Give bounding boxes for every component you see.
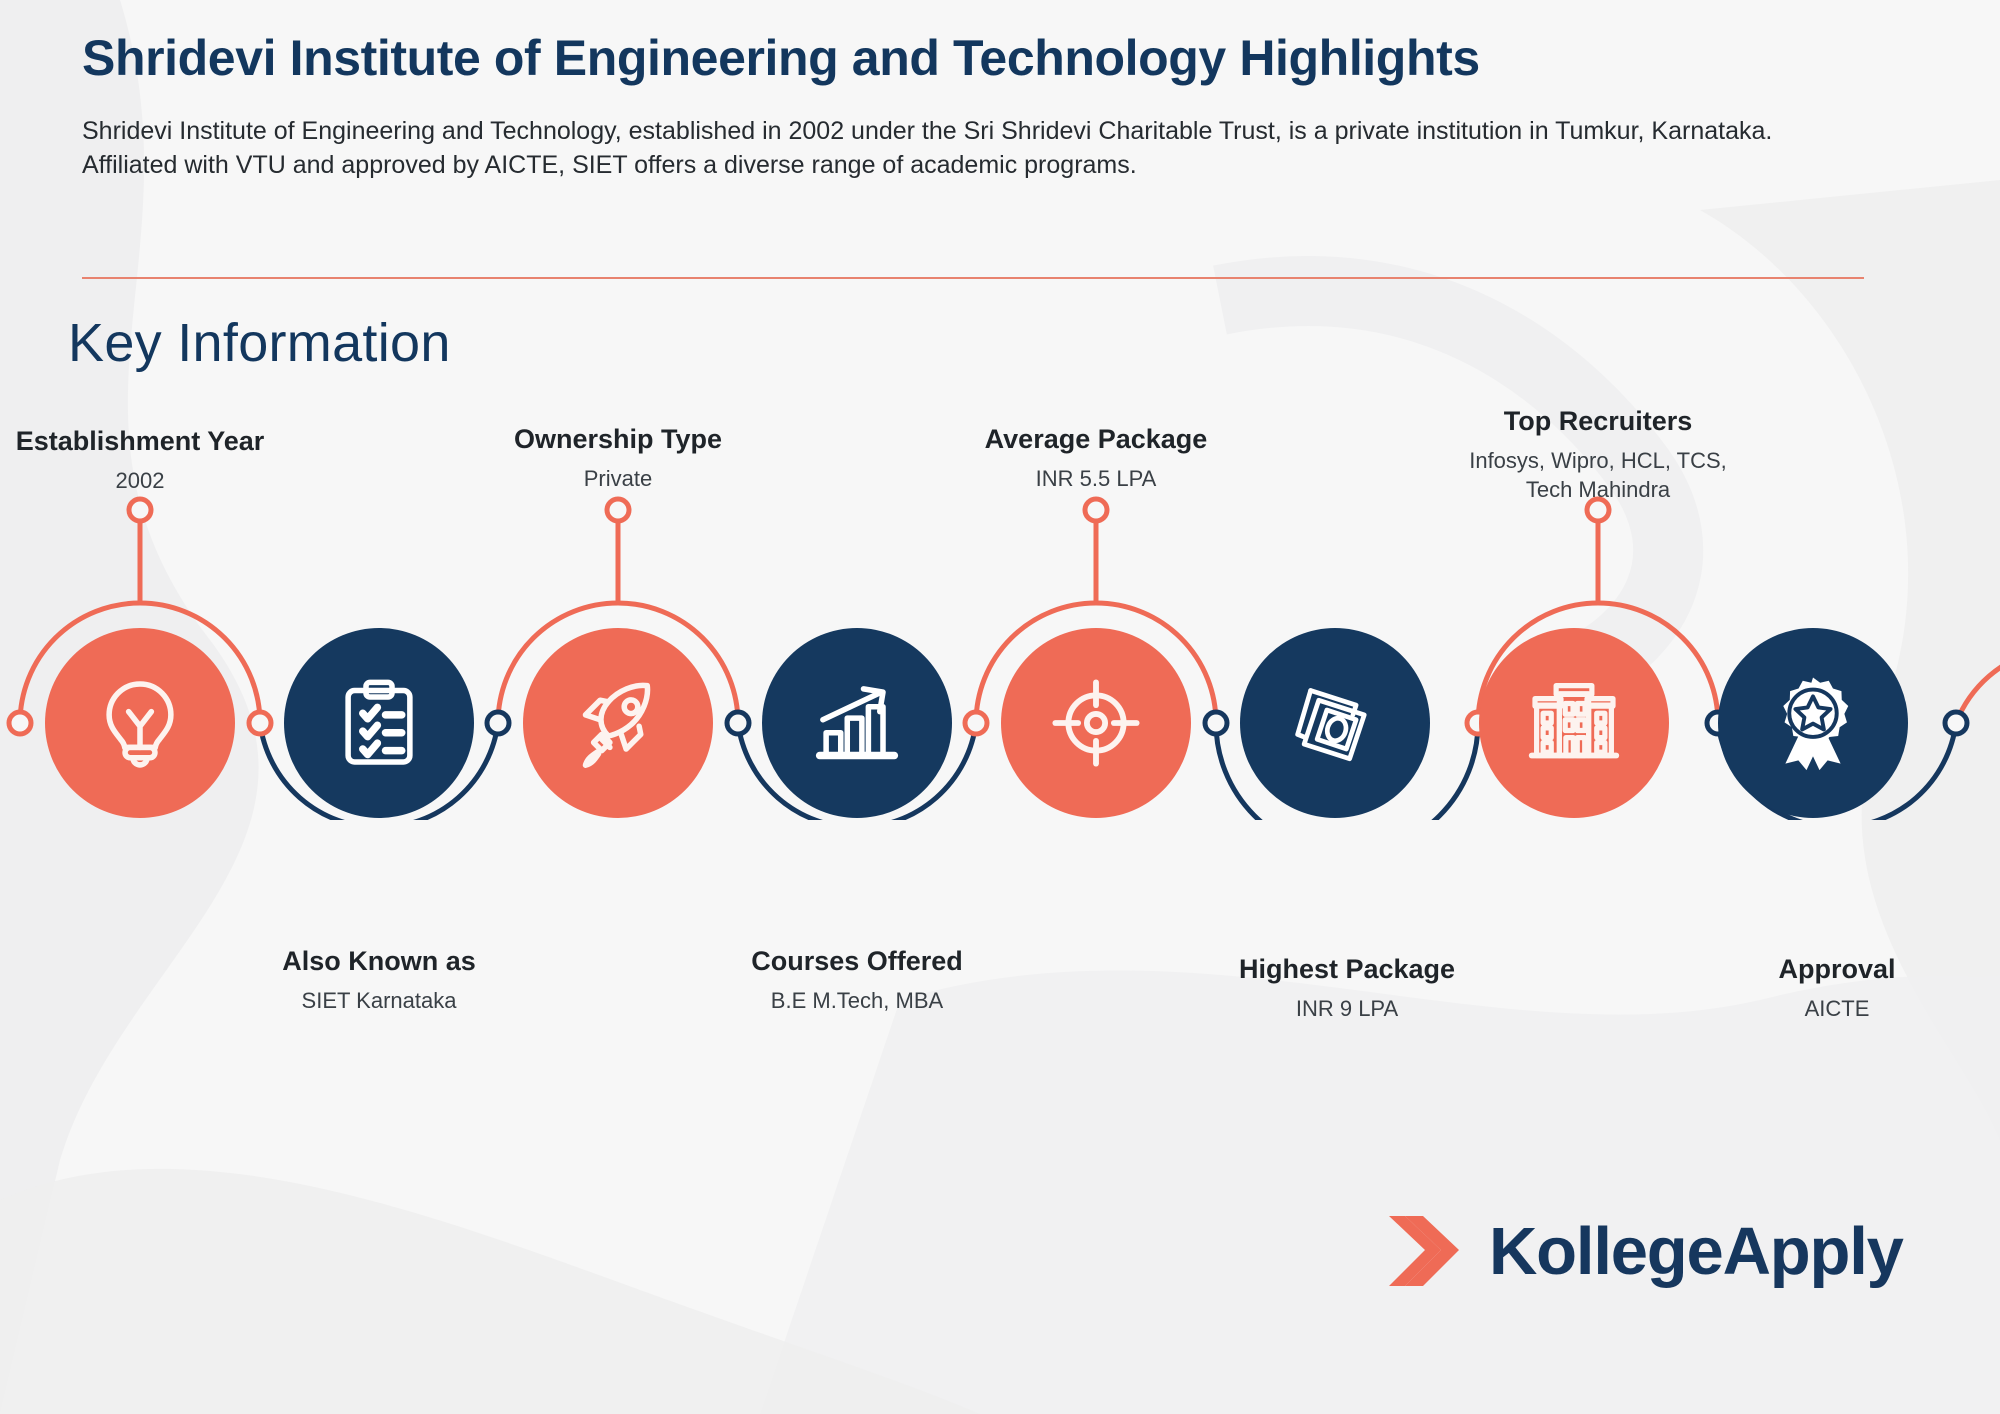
label-value: B.E M.Tech, MBA	[647, 987, 1067, 1016]
double-chevron-icon	[1385, 1212, 1467, 1290]
lightbulb-icon	[88, 671, 192, 775]
building-icon	[1522, 671, 1626, 775]
logo-text: KollegeApply	[1489, 1213, 1903, 1290]
label-title: Courses Offered	[647, 945, 1067, 978]
label-title: Also Known as	[169, 945, 589, 978]
timeline-node-approval[interactable]	[1718, 628, 1908, 818]
label-also-known-as: Also Known as SIET Karnataka	[169, 945, 589, 1016]
label-value: Infosys, Wipro, HCL, TCS, Tech Mahindra	[1458, 447, 1738, 504]
label-title: Ownership Type	[408, 423, 828, 456]
clipboard-checklist-icon	[327, 671, 431, 775]
target-icon	[1044, 671, 1148, 775]
banknotes-icon	[1283, 671, 1387, 775]
label-courses-offered: Courses Offered B.E M.Tech, MBA	[647, 945, 1067, 1016]
label-value: INR 5.5 LPA	[886, 465, 1306, 494]
timeline-node-ownership-type[interactable]	[523, 628, 713, 818]
brand-logo[interactable]: KollegeApply	[1385, 1212, 1903, 1290]
infographic-canvas: Shridevi Institute of Engineering and Te…	[0, 0, 2000, 1414]
timeline-node-top-recruiters[interactable]	[1479, 628, 1669, 818]
label-ownership-type: Ownership Type Private	[408, 423, 828, 494]
rocket-icon	[566, 671, 670, 775]
label-highest-package: Highest Package INR 9 LPA	[1137, 953, 1557, 1024]
timeline-node-establishment-year[interactable]	[45, 628, 235, 818]
label-average-package: Average Package INR 5.5 LPA	[886, 423, 1306, 494]
label-value: Private	[408, 465, 828, 494]
label-approval: Approval AICTE	[1627, 953, 2000, 1024]
label-title: Top Recruiters	[1388, 405, 1808, 438]
label-title: Average Package	[886, 423, 1306, 456]
header-divider	[82, 277, 1864, 279]
label-value: INR 9 LPA	[1137, 995, 1557, 1024]
label-top-recruiters: Top Recruiters Infosys, Wipro, HCL, TCS,…	[1388, 405, 1808, 504]
header-block: Shridevi Institute of Engineering and Te…	[82, 30, 1922, 183]
label-value: AICTE	[1627, 995, 2000, 1024]
label-establishment-year: Establishment Year 2002	[0, 425, 350, 496]
label-title: Approval	[1627, 953, 2000, 986]
page-title: Shridevi Institute of Engineering and Te…	[82, 30, 1922, 86]
label-title: Highest Package	[1137, 953, 1557, 986]
label-value: 2002	[0, 467, 350, 496]
timeline-node-highest-package[interactable]	[1240, 628, 1430, 818]
award-badge-icon	[1761, 671, 1865, 775]
timeline-node-courses-offered[interactable]	[762, 628, 952, 818]
timeline-node-average-package[interactable]	[1001, 628, 1191, 818]
label-value: SIET Karnataka	[169, 987, 589, 1016]
label-title: Establishment Year	[0, 425, 350, 458]
section-heading: Key Information	[68, 312, 451, 374]
page-intro: Shridevi Institute of Engineering and Te…	[82, 114, 1862, 183]
timeline-node-also-known-as[interactable]	[284, 628, 474, 818]
growth-chart-icon	[805, 671, 909, 775]
